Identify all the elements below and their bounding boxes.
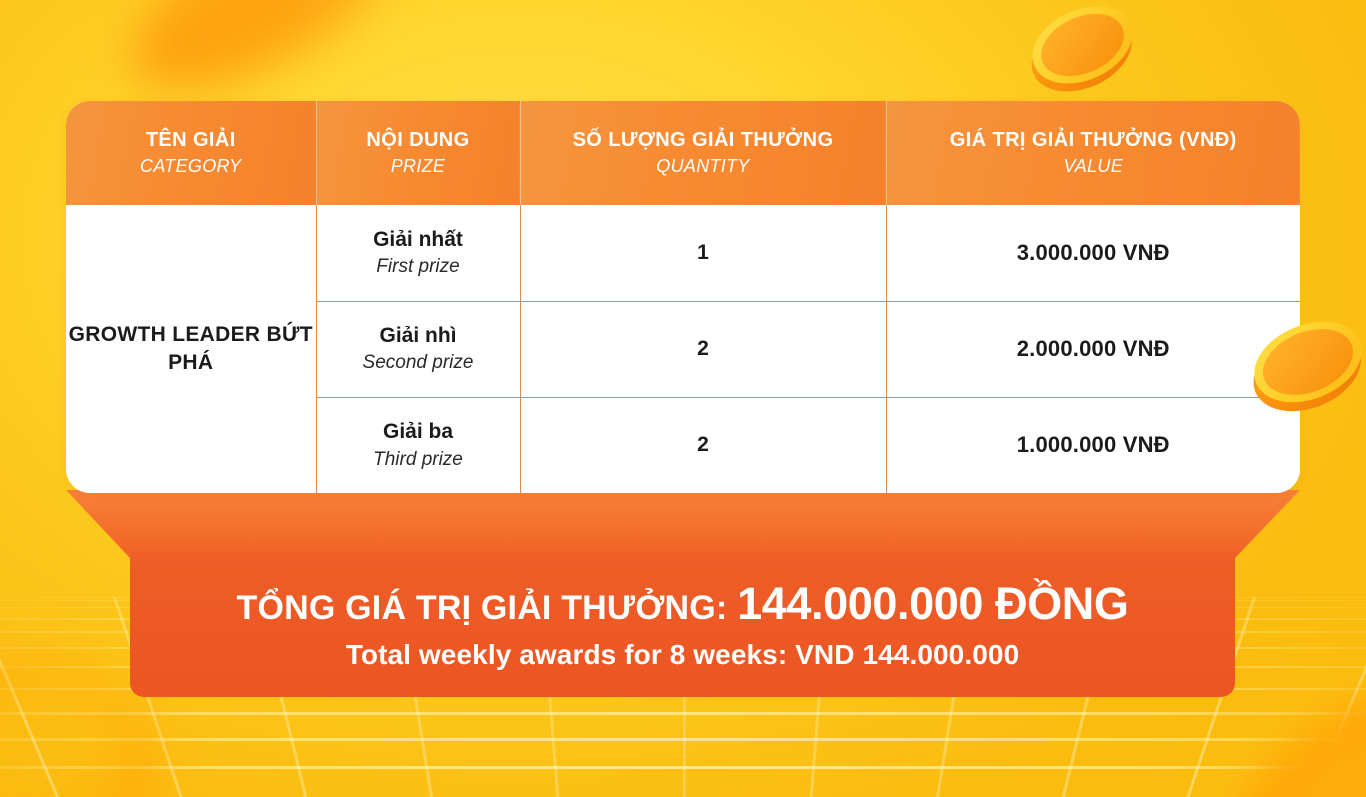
header-prize-vi: NỘI DUNG	[323, 128, 514, 153]
header-quantity: SỐ LƯỢNG GIẢI THƯỞNG QUANTITY	[520, 101, 886, 205]
header-prize: NỘI DUNG PRIZE	[316, 101, 520, 205]
header-quantity-vi: SỐ LƯỢNG GIẢI THƯỞNG	[527, 128, 880, 153]
prize-name-en: Third prize	[317, 447, 520, 473]
header-quantity-en: QUANTITY	[527, 155, 880, 178]
prize-name-vi: Giải nhì	[317, 322, 520, 349]
category-cell: GROWTH LEADER BỨT PHÁ	[66, 205, 316, 493]
value-cell: 2.000.000 VNĐ	[886, 301, 1300, 397]
prize-cell: Giải nhì Second prize	[316, 301, 520, 397]
header-value: GIÁ TRỊ GIẢI THƯỞNG (VNĐ) VALUE	[886, 101, 1300, 205]
total-prize-label: TỔNG GIÁ TRỊ GIẢI THƯỞNG:	[237, 589, 728, 627]
header-category-en: CATEGORY	[72, 155, 310, 178]
podium-top-surface	[0, 490, 1366, 558]
table-row: GROWTH LEADER BỨT PHÁ Giải nhất First pr…	[66, 205, 1300, 301]
prize-cell: Giải nhất First prize	[316, 205, 520, 301]
value-cell: 3.000.000 VNĐ	[886, 205, 1300, 301]
header-category: TÊN GIẢI CATEGORY	[66, 101, 316, 205]
prize-name-en: Second prize	[317, 350, 520, 376]
prize-name-vi: Giải nhất	[317, 226, 520, 253]
total-prize-subtitle: Total weekly awards for 8 weeks: VND 144…	[346, 639, 1020, 671]
header-value-vi: GIÁ TRỊ GIẢI THƯỞNG (VNĐ)	[893, 128, 1295, 153]
coin-top-right-icon	[1020, 0, 1144, 98]
prize-name-vi: Giải ba	[317, 418, 520, 445]
quantity-cell: 2	[520, 397, 886, 493]
promo-poster: TÊN GIẢI CATEGORY NỘI DUNG PRIZE SỐ LƯỢN…	[0, 0, 1366, 797]
header-value-en: VALUE	[893, 155, 1295, 178]
quantity-cell: 1	[520, 205, 886, 301]
total-prize-line: TỔNG GIÁ TRỊ GIẢI THƯỞNG: 144.000.000 ĐỒ…	[237, 578, 1129, 630]
total-prize-banner: TỔNG GIÁ TRỊ GIẢI THƯỞNG: 144.000.000 ĐỒ…	[130, 552, 1235, 697]
prize-name-en: First prize	[317, 254, 520, 280]
header-category-vi: TÊN GIẢI	[72, 128, 310, 153]
table-header-row: TÊN GIẢI CATEGORY NỘI DUNG PRIZE SỐ LƯỢN…	[66, 101, 1300, 205]
value-cell: 1.000.000 VNĐ	[886, 397, 1300, 493]
quantity-cell: 2	[520, 301, 886, 397]
header-prize-en: PRIZE	[323, 155, 514, 178]
prize-cell: Giải ba Third prize	[316, 397, 520, 493]
total-prize-amount: 144.000.000 ĐỒNG	[737, 578, 1128, 629]
prize-table: TÊN GIẢI CATEGORY NỘI DUNG PRIZE SỐ LƯỢN…	[66, 101, 1300, 493]
